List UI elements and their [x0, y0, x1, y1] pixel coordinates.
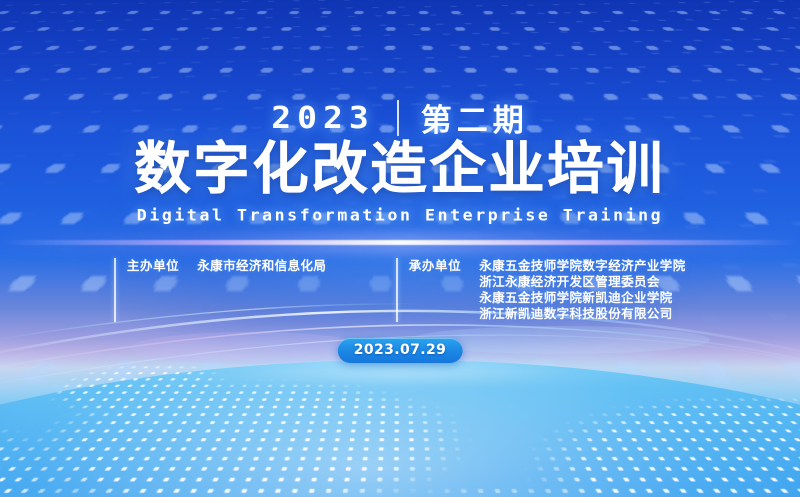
event-issue-number: 第二期 [421, 95, 529, 140]
host-organizer-values: 永康市经济和信息化局 [197, 258, 326, 274]
co-organizer-name-1: 永康五金技师学院数字经济产业学院 [479, 258, 685, 274]
host-organizer-label: 主办单位 [127, 258, 179, 274]
page-subtitle-english: Digital Transformation Enterprise Traini… [0, 206, 800, 224]
co-organizer-label: 承办单位 [409, 258, 461, 274]
co-organizer-block: 承办单位 永康五金技师学院数字经济产业学院 浙江永康经济开发区管理委员会 永康五… [396, 258, 685, 322]
co-organizer-name-2: 浙江永康经济开发区管理委员会 [479, 274, 685, 290]
co-organizer-name-4: 浙江新凯迪数字科技股份有限公司 [479, 306, 685, 322]
organizers-row: 主办单位 永康市经济和信息化局 承办单位 永康五金技师学院数字经济产业学院 浙江… [0, 258, 800, 322]
host-organizer-name: 永康市经济和信息化局 [197, 258, 326, 274]
co-organizer-name-3: 永康五金技师学院新凯迪企业学院 [479, 290, 685, 306]
event-date-badge: 2023.07.29 [338, 338, 463, 363]
event-year: 2023 [271, 100, 374, 136]
poster-content: 2023 第二期 数字化改造企业培训 Digital Transformatio… [0, 0, 800, 497]
eyebrow-row: 2023 第二期 [0, 95, 800, 140]
host-organizer-block: 主办单位 永康市经济和信息化局 [114, 258, 326, 322]
page-title: 数字化改造企业培训 [0, 140, 800, 199]
co-organizer-values: 永康五金技师学院数字经济产业学院 浙江永康经济开发区管理委员会 永康五金技师学院… [479, 258, 685, 322]
event-poster-banner: 2023 第二期 数字化改造企业培训 Digital Transformatio… [0, 0, 800, 497]
eyebrow-divider-icon [397, 100, 399, 136]
host-accent-line-icon [114, 258, 116, 322]
co-organizer-accent-line-icon [396, 258, 398, 322]
